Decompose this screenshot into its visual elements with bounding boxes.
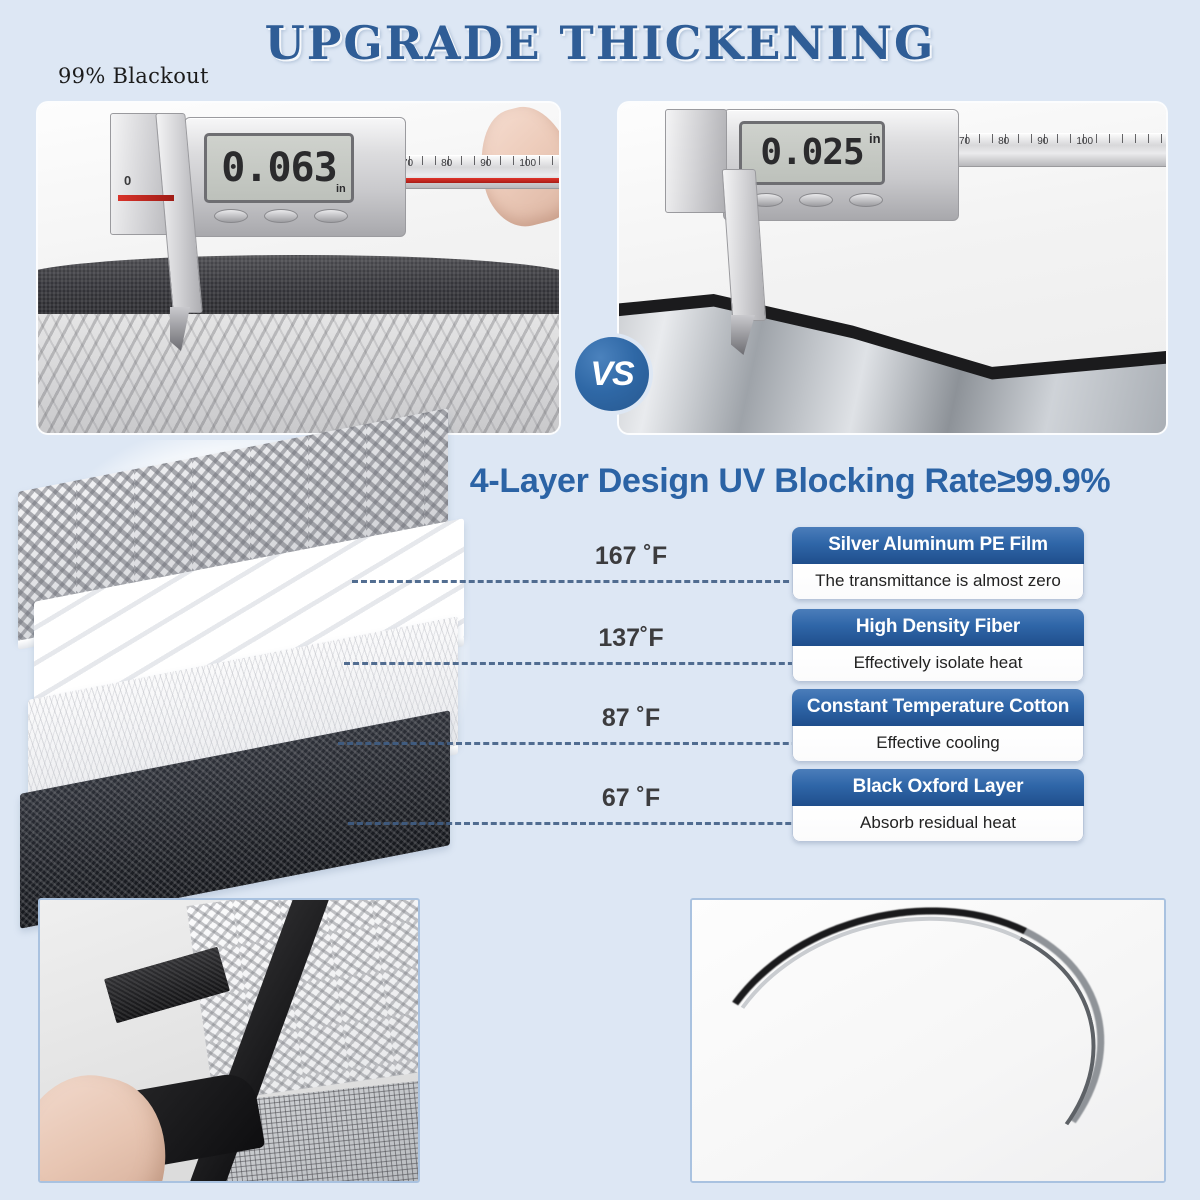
caliper-beam: 70 80 90 100	[396, 155, 559, 189]
caliper-display: 0.063	[204, 133, 354, 203]
layer-row: 137˚F High Density Fiber Effectively iso…	[330, 662, 1190, 663]
scale-tick-100: 100	[1076, 136, 1093, 147]
comparison-photo-row: 70 80 90 100 0.063 in 0	[38, 103, 1166, 433]
bottom-photo-row	[38, 898, 1166, 1183]
caliper-unit: in	[869, 131, 881, 146]
layer-badge-title: Black Oxford Layer	[792, 769, 1084, 806]
scale-tick-80: 80	[441, 158, 452, 169]
layer-badge: Black Oxford Layer Absorb residual heat	[792, 769, 1084, 842]
layer-row: 167 ˚F Silver Aluminum PE Film The trans…	[330, 580, 1190, 581]
caliper-reading: 0.025	[760, 135, 863, 171]
layer-badge-description: Effectively isolate heat	[792, 646, 1084, 682]
scale-tick-80: 80	[998, 136, 1009, 147]
scale-tick-70: 70	[959, 136, 970, 147]
layer-badge: High Density Fiber Effectively isolate h…	[792, 609, 1084, 682]
layer-temperature: 167 ˚F	[566, 542, 696, 571]
four-layer-section: 4-Layer Design UV Blocking Rate≥99.9% 16…	[0, 440, 1200, 895]
layer-badge-title: Constant Temperature Cotton	[792, 689, 1084, 726]
exploded-layer-illustration	[10, 440, 480, 895]
layer-row: 67 ˚F Black Oxford Layer Absorb residual…	[330, 822, 1190, 823]
layer-badge-description: Absorb residual heat	[792, 806, 1084, 842]
steel-wire-frame-photo	[690, 898, 1166, 1183]
scale-tick-90: 90	[480, 158, 491, 169]
layer-badge-title: Silver Aluminum PE Film	[792, 527, 1084, 564]
layer-badge: Silver Aluminum PE Film The transmittanc…	[792, 527, 1084, 600]
caliper-button-2[interactable]	[264, 209, 298, 223]
scale-tick-100: 100	[519, 158, 536, 169]
digital-caliper: 70 80 90 100 0.025 in	[665, 109, 1165, 369]
blackout-label: 99% Blackout	[58, 64, 209, 88]
caliper-button-1[interactable]	[214, 209, 248, 223]
caliper-fixed-jaw	[665, 109, 727, 213]
leader-line	[352, 580, 807, 583]
caliper-scale-numbers: 70 80 90 100	[953, 136, 1166, 147]
caliper-button-3[interactable]	[314, 209, 348, 223]
layer-section-title: 4-Layer Design UV Blocking Rate≥99.9%	[440, 462, 1140, 501]
thin-fabric-caliper-photo: 70 80 90 100 0.025 in	[619, 103, 1166, 433]
layer-badge-description: The transmittance is almost zero	[792, 564, 1084, 600]
caliper-zero-mark: 0	[124, 173, 131, 188]
leader-line	[348, 822, 818, 825]
caliper-jaw-tip	[170, 307, 190, 351]
caliper-beam: 70 80 90 100	[953, 133, 1166, 167]
caliper-display: 0.025	[739, 121, 885, 185]
caliper-zero-stripe	[118, 195, 174, 201]
leader-line	[344, 662, 812, 665]
caliper-red-stripe	[396, 178, 559, 183]
caliper-button-3[interactable]	[849, 193, 883, 207]
velcro-strap-detail-photo	[38, 898, 420, 1183]
caliper-button-2[interactable]	[799, 193, 833, 207]
layer-badge-title: High Density Fiber	[792, 609, 1084, 646]
thick-fabric-caliper-photo: 70 80 90 100 0.063 in 0	[38, 103, 559, 433]
digital-caliper: 70 80 90 100 0.063 in 0	[96, 111, 559, 381]
leader-line	[338, 742, 816, 745]
layer-temperature: 137˚F	[566, 624, 696, 653]
layer-badge-description: Effective cooling	[792, 726, 1084, 762]
layer-temperature: 67 ˚F	[566, 784, 696, 813]
caliper-reading: 0.063	[221, 148, 336, 188]
layer-badge: Constant Temperature Cotton Effective co…	[792, 689, 1084, 762]
layer-row: 87 ˚F Constant Temperature Cotton Effect…	[330, 742, 1190, 743]
caliper-scale-numbers: 70 80 90 100	[396, 158, 559, 169]
layer-temperature: 87 ˚F	[566, 704, 696, 733]
page-title: UPGRADE THICKENING	[0, 16, 1200, 70]
caliper-jaw-tip	[731, 315, 755, 355]
vs-badge: VS	[575, 337, 649, 411]
page-header: UPGRADE THICKENING 99% Blackout	[0, 0, 1200, 100]
scale-tick-90: 90	[1037, 136, 1048, 147]
caliper-unit: in	[336, 183, 346, 195]
